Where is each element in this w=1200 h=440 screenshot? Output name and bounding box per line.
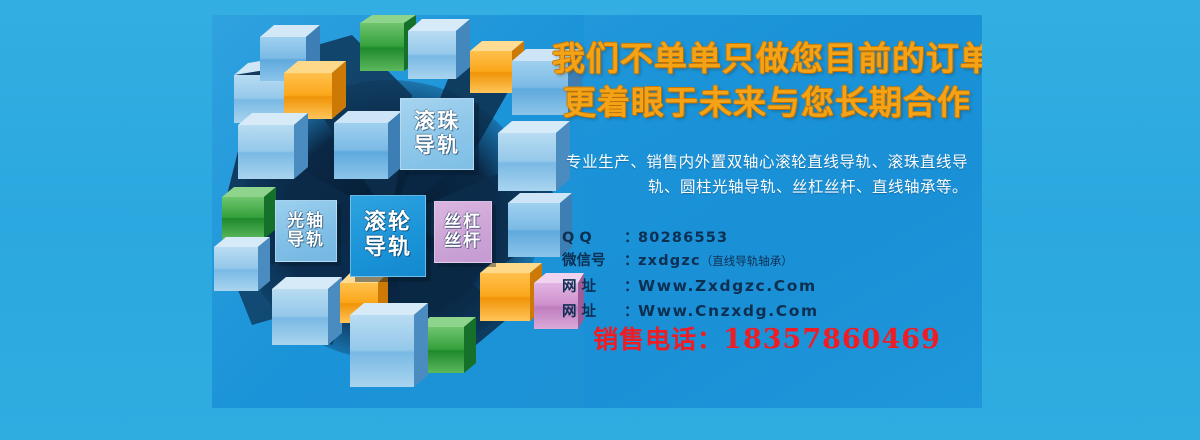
product-label-line1: 滚珠 (414, 110, 460, 134)
headline-line-2: 更着眼于未来与您长期合作 (552, 81, 982, 125)
banner-text-column: 我们不单单只做您目前的订单 更着眼于未来与您长期合作 专业生产、销售内外置双轴心… (552, 15, 982, 408)
promo-banner: 滚珠 导轨 光轴 导轨 滚轮 导轨 丝杠 丝杆 我们不单单只做您目前的订单 更着… (0, 0, 1200, 440)
cube-cluster-graphic: 滚珠 导轨 光轴 导轨 滚轮 导轨 丝杠 丝杆 (212, 15, 584, 408)
headline: 我们不单单只做您目前的订单 更着眼于未来与您长期合作 (552, 37, 982, 125)
product-label-line2: 导轨 (414, 134, 460, 158)
product-label-line2: 导轨 (364, 236, 412, 261)
contact-block: Q Q ： 80286553 微信号 ： zxdgzc （直线导轨轴承） 网 址… (562, 227, 982, 325)
product-label-line2: 丝杆 (444, 232, 482, 251)
product-label-line1: 滚轮 (364, 211, 412, 236)
product-label-line1: 丝杠 (444, 213, 482, 232)
contact-separator: ： (624, 276, 638, 299)
contact-value-qq[interactable]: 80286553 (638, 227, 728, 250)
product-label-gunlun-daogui: 滚轮 导轨 (350, 195, 426, 277)
sales-phone: 销售电话：18357860469 (552, 320, 982, 356)
contact-label: Q Q (562, 227, 624, 250)
description-text: 专业生产、销售内外置双轴心滚轮直线导轨、滚珠直线导轨、圆柱光轴导轨、丝杠丝杆、直… (566, 150, 968, 200)
product-label-sigang-sigan: 丝杠 丝杆 (434, 201, 492, 263)
contact-label: 微信号 (562, 250, 624, 273)
product-label-guangzhou-daogui: 光轴 导轨 (275, 200, 337, 262)
contact-value-website-1[interactable]: Www.Zxdgzc.Com (638, 274, 817, 299)
contact-note-wechat: （直线导轨轴承） (701, 252, 793, 271)
sales-phone-number[interactable]: 18357860469 (723, 324, 941, 355)
product-label-line2: 导轨 (287, 231, 325, 250)
contact-separator: ： (624, 250, 638, 273)
banner-inner-panel: 滚珠 导轨 光轴 导轨 滚轮 导轨 丝杠 丝杆 我们不单单只做您目前的订单 更着… (212, 15, 982, 408)
sales-phone-label: 销售电话： (593, 325, 723, 354)
product-label-gunzhu-daogui: 滚珠 导轨 (400, 98, 474, 170)
contact-label: 网 址 (562, 276, 624, 299)
contact-row-qq: Q Q ： 80286553 (562, 227, 982, 250)
headline-line-1: 我们不单单只做您目前的订单 (552, 37, 982, 81)
contact-row-wechat: 微信号 ： zxdgzc （直线导轨轴承） (562, 250, 982, 273)
contact-separator: ： (624, 227, 638, 250)
contact-value-wechat[interactable]: zxdgzc (638, 250, 701, 273)
contact-row-website-1: 网 址 ： Www.Zxdgzc.Com (562, 274, 982, 299)
product-label-line1: 光轴 (287, 212, 325, 231)
